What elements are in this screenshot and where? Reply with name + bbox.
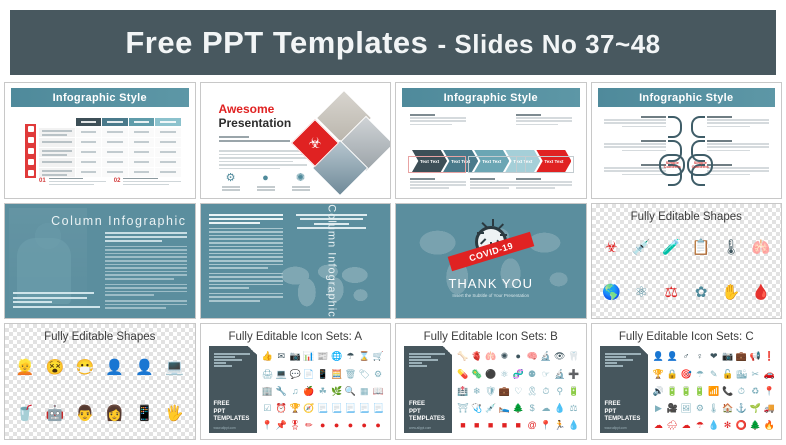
table-cell [129,138,154,147]
brand-line: TEMPLATES [214,416,250,424]
drop-icon[interactable]: 💧 [708,421,719,430]
table-row [39,148,181,157]
bone-icon[interactable]: ☞ [542,370,550,379]
xray-tablet-icon: 📱 [135,406,154,421]
camera-icon[interactable]: 📷 [722,352,733,361]
virus-icon: ⚛ [635,285,648,300]
table-cell [155,148,180,157]
video-icon[interactable]: 🎥 [667,404,678,413]
slide-thumbnail-45[interactable]: Fully Editable Shapes 👱 😵 😷 👤 👤 💻 🥤 🤖 👨 … [4,323,196,440]
table-cell [129,148,154,157]
scale-icon[interactable]: ⚖ [570,404,578,413]
phone-icon[interactable]: 📞 [722,387,733,396]
truck-icon[interactable]: 🚚 [763,404,774,413]
table-cell [76,168,101,177]
row-label [39,128,75,137]
camera-icon[interactable]: 📷 [289,352,300,361]
liver-icon[interactable]: ● [516,352,521,361]
table-cell [76,158,101,167]
blood-vial-icon: 🩸 [752,285,771,300]
umbrella-icon[interactable]: ☂ [696,421,704,430]
table-cell [155,158,180,167]
document-icon[interactable]: 📃 [345,404,356,413]
table-header-row [39,118,181,126]
brand-line: FREE [605,401,641,409]
slide-body: Awesome Presentation ⚙ ● ✺ [207,88,385,193]
row-label [39,138,75,147]
slide-thumbnail-37[interactable]: Infographic Style [4,82,196,199]
linkedin-icon[interactable]: ■ [460,421,465,430]
slide-thumbnail-39[interactable]: Infographic Style Text Text Text Text Te… [395,82,587,199]
cloud-icon[interactable]: ☁ [654,421,663,430]
drop-icon[interactable]: 💧 [568,421,579,430]
organ-icon[interactable]: 🫀 [471,352,482,361]
bracket-icon [668,116,682,138]
icon-column [25,124,36,178]
data-table [39,118,181,178]
card-note-lines [605,353,641,368]
thermometer-icon: 🌡 [722,240,741,255]
printer-icon[interactable]: 🖨 [262,370,273,379]
table-cell [155,128,180,137]
slide-body: 01 02 [11,108,189,193]
table-cell [129,168,154,177]
compass-icon[interactable]: 🧭 [303,404,314,413]
virus-icon[interactable]: ⚛ [500,370,508,379]
cloud-icon[interactable]: ☁ [682,421,691,430]
slide-paragraph [105,232,187,311]
city-icon[interactable]: 🏙 [736,370,747,379]
person-icon[interactable]: 👤 [667,352,678,361]
syringe-icon[interactable]: 💉 [485,404,496,413]
chart-icon[interactable]: 📊 [303,352,314,361]
grid-icon[interactable]: ▦ [360,387,369,396]
thank-you-heading: THANK YOU [396,276,586,291]
sneeze-head-icon: 😷 [75,360,94,375]
card-note-lines [214,353,250,368]
drop-icon[interactable]: 💧 [554,404,565,413]
brand-name: FREE PPT TEMPLATES [605,401,641,424]
pinterest-icon[interactable]: ■ [474,421,479,430]
heart-icon[interactable]: ♡ [514,387,522,396]
cloud-rain-icon[interactable]: 🌧 [667,421,678,430]
male-icon[interactable]: ♂ [683,352,690,361]
callout-top-left [410,114,466,127]
screenshot-page: Free PPT Templates - Slides No 37~48 Inf… [0,0,786,445]
center-node-right[interactable]: Simple Contents [687,154,713,176]
pencil-icon[interactable]: ✏ [305,421,313,430]
brand-card: FREE PPT TEMPLATES www.allppt.com [209,346,257,433]
brand-line: TEMPLATES [409,416,445,424]
dna-icon[interactable]: 🧬 [513,370,524,379]
emoji-icon[interactable]: ● [348,421,353,430]
slide-title: Infographic Style [639,92,733,104]
icon-grid: 👤 👤 ♂ ♀ ❤ 📷 💼 📢 ❗ 🏆 🔒 🎯 ☂ ✎ 🔓 🏙 ✂ 🚗 🔊 [652,348,777,434]
center-label: Simple Contents [689,161,711,169]
table-cell [76,128,101,137]
ring-icon[interactable]: ⭕ [736,421,747,430]
twitter-icon[interactable]: ■ [502,421,507,430]
brand-line: FREE [214,401,250,409]
slide-title-bar: Infographic Style [402,88,580,107]
footnote: 01 [39,178,106,187]
newspaper-icon[interactable]: 📰 [317,352,328,361]
mask-icon [28,159,34,165]
banner-title-sub: - Slides No 37~48 [438,29,661,59]
chat-icon[interactable]: 💬 [289,370,300,379]
brain-icon[interactable]: 🧠 [526,352,537,361]
checkbox-icon[interactable]: ☑ [263,404,271,413]
slide-title: Fully Editable Icon Sets: B [396,331,586,343]
snowflake-icon[interactable]: ❄ [473,387,481,396]
fire-icon[interactable]: 🔥 [763,421,774,430]
footnote-number: 01 [39,178,46,187]
brand-name: FREE PPT TEMPLATES [409,401,445,424]
briefcase-icon[interactable]: 💼 [736,352,747,361]
doctor-icon: 🤖 [46,406,65,421]
battery-icon[interactable]: 🔋 [568,387,579,396]
monitor-icon: 💻 [165,360,184,375]
leaf-icon[interactable]: 🌿 [331,387,342,396]
location-icon[interactable]: 📍 [540,421,551,430]
row-label [39,148,75,157]
slide-title-bar: Infographic Style [11,88,189,107]
center-label: Simple Contents [661,161,683,169]
callout-bottom-left [410,178,466,191]
left-items [604,116,666,188]
bed-icon[interactable]: 🛌 [499,404,510,413]
lungs-icon: ⚙ [217,172,245,184]
unlock-icon[interactable]: 🔓 [722,370,733,379]
battery-icon[interactable]: 🔋 [694,387,705,396]
microscope-icon[interactable]: 🔬 [554,370,565,379]
slide-paragraph [209,214,283,304]
slide-thumbnail-43[interactable]: COVID-19 THANK YOU Insert the Subtitle o… [395,203,587,320]
row-label [39,168,75,177]
slide-title: Column Infographic [51,214,186,228]
slide-title: Fully Editable Icon Sets: C [592,331,782,343]
battery-icon[interactable]: 🔋 [680,387,691,396]
slide-title: Infographic Style [53,92,147,104]
tree-icon[interactable]: 🌲 [750,421,761,430]
cell-icon[interactable]: ⚫ [485,370,496,379]
table-header-cell [76,118,101,126]
building-icon[interactable]: 🏢 [262,387,273,396]
building-icon [28,137,34,143]
ribbon-icon[interactable]: 🎗 [526,387,537,396]
slide-grid: Infographic Style [4,82,782,440]
pill-icon[interactable]: 💊 [457,370,468,379]
shield-icon[interactable]: 🛡 [485,387,496,396]
germ-icon[interactable]: 🦠 [471,370,482,379]
mortar-icon[interactable]: ⛩ [457,404,468,413]
slide-title: Fully Editable Shapes [5,331,195,343]
sun-icon[interactable]: ✻ [724,421,732,430]
pin-icon[interactable]: 📍 [262,421,273,430]
slide-thumbnail-47[interactable]: Fully Editable Icon Sets: B FREE PPT TEM… [395,323,587,440]
slide-title: Fully Editable Icon Sets: A [201,331,391,343]
plus-icon[interactable]: ➕ [568,370,579,379]
play-icon[interactable]: ▶ [655,404,662,413]
table-cell [155,168,180,177]
handwash-icon: 🥤 [16,406,35,421]
table-cell [102,168,127,177]
list-item [604,164,666,182]
coughing-head-icon: 😵 [46,360,65,375]
plant-icon[interactable]: 🌱 [750,404,761,413]
list-item [707,116,769,134]
award-icon[interactable]: 🎖 [289,421,300,430]
card-note-lines [409,353,445,368]
document-icon[interactable]: 📃 [372,404,383,413]
body-silhouette-icon: 👤 [105,360,124,375]
phone-icon[interactable]: 📱 [317,370,328,379]
scissors-icon[interactable]: ✂ [751,370,759,379]
slide-body: Text Text Text Text Text Text Text Text … [402,108,580,193]
header-banner: Free PPT Templates - Slides No 37~48 [10,10,776,75]
footnotes: 01 02 [39,178,181,187]
icon-grid: 🦴 🫀 🫁 ✺ ● 🧠 🔬 👁 🦷 💊 🦠 ⚫ ⚛ 🧬 ⚉ ☞ 🔬 ➕ 🏥 [456,348,581,434]
home-icon[interactable]: 🏠 [722,404,733,413]
hand-icon: ✋ [722,285,741,300]
table-header-cell [102,118,127,126]
table-cell [102,158,127,167]
youtube-icon[interactable]: ■ [516,421,521,430]
pin-icon[interactable]: 📌 [276,421,287,430]
brand-name: FREE PPT TEMPLATES [214,401,250,424]
brand-url: www.allppt.com [605,426,627,430]
recycle-icon[interactable]: ♻ [751,387,759,396]
slide-thumbnail-41[interactable]: Column Infographic [4,203,196,320]
emoji-icon[interactable]: ● [320,421,325,430]
female-icon[interactable]: ♀ [697,352,704,361]
tag-icon[interactable]: 🏷 [359,370,370,379]
brand-url: www.allppt.com [214,426,236,430]
slide-thumbnail-40[interactable]: Infographic Style [591,82,783,199]
tooth-icon[interactable]: 🦷 [568,352,579,361]
slide-footer [13,292,105,310]
slide-title: Column Infographic [325,204,337,317]
alarm-icon[interactable]: ⏰ [276,404,287,413]
lungs-icon: 🫁 [752,240,771,255]
brand-line: TEMPLATES [605,416,641,424]
car-icon[interactable]: 🚗 [763,370,774,379]
bone-icon[interactable]: 🦴 [457,352,468,361]
trophy-icon[interactable]: 🏆 [289,404,300,413]
slide-heading-accent: Awesome [219,102,275,116]
cloud-icon[interactable]: ☁ [541,404,550,413]
tools-icon[interactable]: 🔧 [276,387,287,396]
virus-icon [28,126,34,132]
megaphone-icon[interactable]: 📢 [750,352,761,361]
runner-icon[interactable]: 🏃 [554,421,565,430]
slide-title: Infographic Style [444,92,538,104]
emoji-icon[interactable]: ● [334,421,339,430]
table-row [39,158,181,167]
list-item [604,140,666,158]
icon-grid: 👍 ✉ 📷 📊 📰 🌐 ☂ ⌛ 🛒 🖨 💻 💬 📄 📱 🧮 🗑 🏷 ⚙ 🏢 [261,348,386,434]
callout-box-red [408,156,466,173]
laptop-icon[interactable]: 💻 [276,370,287,379]
biohazard-icon: ☣ [299,127,331,159]
row-label [39,158,75,167]
tree-icon[interactable]: 🌲 [513,404,524,413]
lock-icon[interactable]: 🔒 [667,370,678,379]
clipboard-icon: 📋 [692,240,711,255]
covid-ribbon-icon: ☣ [605,240,618,255]
thumbs-up-icon[interactable]: 👍 [262,352,273,361]
globe-icon[interactable]: 🌐 [331,352,342,361]
bracket-icon [691,116,705,138]
music-icon[interactable]: ♫ [292,387,299,396]
mask-icon: ● [252,172,280,184]
share-icon[interactable]: ⚲ [556,387,563,396]
apple-icon[interactable]: 🍎 [303,387,314,396]
clock-icon[interactable]: ⏱ [738,387,745,396]
table-header-cell [155,118,180,126]
glove-hand-icon: 🖐 [165,406,184,421]
icon-caption-item: ⚙ [217,172,245,191]
photo-collage: ☣ [294,96,380,188]
speaker-icon[interactable]: 🔊 [653,387,664,396]
table-cell [76,148,101,157]
footnote-number: 02 [114,178,121,187]
spray-bottle-icon: ⚖ [665,285,678,300]
facebook-icon[interactable]: ■ [488,421,493,430]
document-icon[interactable]: 📃 [359,404,370,413]
table-row [39,138,181,147]
banner-title-main: Free PPT Templates [125,25,428,60]
table-cell [76,138,101,147]
mail-icon[interactable]: ✉ [277,352,285,361]
eye-icon[interactable]: 👁 [554,352,565,361]
anchor-icon[interactable]: ⚓ [736,404,747,413]
body-silhouette-icon: 👤 [135,360,154,375]
thermometer-icon[interactable]: 🌡 [708,404,719,413]
brand-card: FREE PPT TEMPLATES www.allppt.com [600,346,648,433]
footnote: 02 [114,178,181,187]
clover-icon[interactable]: ☘ [319,387,327,396]
trophy-icon[interactable]: 🏆 [653,370,664,379]
brand-line: FREE [409,401,445,409]
shape-grid: ☣ 💉 🧪 📋 🌡 🫁 🌎 ⚛ ⚖ ✿ ✋ 🩸 [598,226,776,315]
footnote-text [123,178,180,187]
exclamation-icon[interactable]: ❗ [763,352,774,361]
right-items [707,116,769,188]
clock-icon[interactable]: ⏱ [542,387,549,396]
bacteria-icon[interactable]: ⚉ [528,370,536,379]
syringe-icon: 💉 [632,240,651,255]
target-icon[interactable]: 🎯 [680,370,691,379]
slide-thumbnail-44[interactable]: Fully Editable Shapes ☣ 💉 🧪 📋 🌡 🫁 🌎 ⚛ ⚖ … [591,203,783,320]
pin-icon[interactable]: 📍 [763,387,774,396]
dollar-icon[interactable]: $ [530,404,535,413]
umbrella-icon[interactable]: ☂ [696,370,704,379]
table-header-cell [129,118,154,126]
center-loop: Simple Contents Simple Contents [659,154,713,176]
table-cell [102,138,127,147]
table-row [39,128,181,137]
slide-thumbnail-46[interactable]: Fully Editable Icon Sets: A FREE PPT TEM… [200,323,392,440]
brand-card: FREE PPT TEMPLATES www.allppt.com [404,346,452,433]
umbrella-icon[interactable]: ☂ [346,352,354,361]
at-icon[interactable]: @ [528,421,537,430]
pen-icon[interactable]: ✎ [710,370,718,379]
first-aid-icon[interactable]: 🏥 [457,387,468,396]
battery-icon[interactable]: 🔋 [667,387,678,396]
search-icon[interactable]: 🔍 [345,387,356,396]
callout-bottom-right [516,178,572,191]
slide-body: Simple Contents Simple Contents [598,108,776,193]
list-item [604,116,666,134]
gear-icon[interactable]: ⚙ [696,404,704,413]
lungs-icon[interactable]: 🫁 [485,352,496,361]
brand-line: PPT [409,409,445,417]
table-row [39,168,181,177]
hourglass-icon[interactable]: ⌛ [359,352,370,361]
book-icon[interactable]: 📖 [372,387,383,396]
center-node-left[interactable]: Simple Contents [659,154,685,176]
ppe-suit-icon: 👨 [75,406,94,421]
signal-icon[interactable]: 📶 [708,387,719,396]
test-tube-icon: 🧪 [662,240,681,255]
person-icon[interactable]: 👤 [653,352,664,361]
table-cell [129,158,154,167]
icon-caption-item: ● [252,172,280,191]
globe-virus-icon: 🌎 [602,285,621,300]
slide-thumbnail-48[interactable]: Fully Editable Icon Sets: C FREE PPT TEM… [591,323,783,440]
heart-icon[interactable]: ❤ [710,352,718,361]
slide-heading-main: Presentation [219,116,292,130]
trash-icon[interactable]: 🗑 [345,370,356,379]
page-title: Free PPT Templates - Slides No 37~48 [125,25,660,61]
table-cell [102,148,127,157]
slide-thumbnail-38[interactable]: Awesome Presentation ⚙ ● ✺ [200,82,392,199]
brand-url: www.allppt.com [409,426,431,430]
emoji-icon[interactable]: ● [375,421,380,430]
stethoscope-icon[interactable]: 🩺 [471,404,482,413]
footnote-text [49,178,106,187]
calculator-icon[interactable]: 🧮 [331,370,342,379]
brand-line: PPT [605,409,641,417]
clipboard-icon [28,170,34,176]
flask-icon[interactable]: 🔬 [540,352,551,361]
callout-top-right [516,114,572,127]
table-cell [102,128,127,137]
syringe-icon [28,148,34,154]
bag-icon[interactable]: 💼 [499,387,510,396]
slide-subtitle [219,136,294,144]
callout-box [516,156,574,173]
slide-title: Fully Editable Shapes [592,211,782,223]
document-icon[interactable]: 📃 [317,404,328,413]
image-icon[interactable]: 🖼 [680,404,691,413]
patient-icon: 👩 [105,406,124,421]
slide-thumbnail-42[interactable]: Column Infographic [200,203,392,320]
slide-title-bar: Infographic Style [598,88,776,107]
file-icon[interactable]: 📄 [303,370,314,379]
brand-line: PPT [214,409,250,417]
shape-grid: 👱 😵 😷 👤 👤 💻 🥤 🤖 👨 👩 📱 🖐 [11,346,189,435]
emoji-icon[interactable]: ● [362,421,367,430]
cart-icon[interactable]: 🛒 [372,352,383,361]
list-item [707,140,769,158]
stomach-icon[interactable]: ✺ [501,352,509,361]
list-item [707,164,769,182]
document-icon[interactable]: 📃 [331,404,342,413]
gear-icon[interactable]: ⚙ [374,370,382,379]
lungs-anatomy-icon: ✿ [695,285,708,300]
